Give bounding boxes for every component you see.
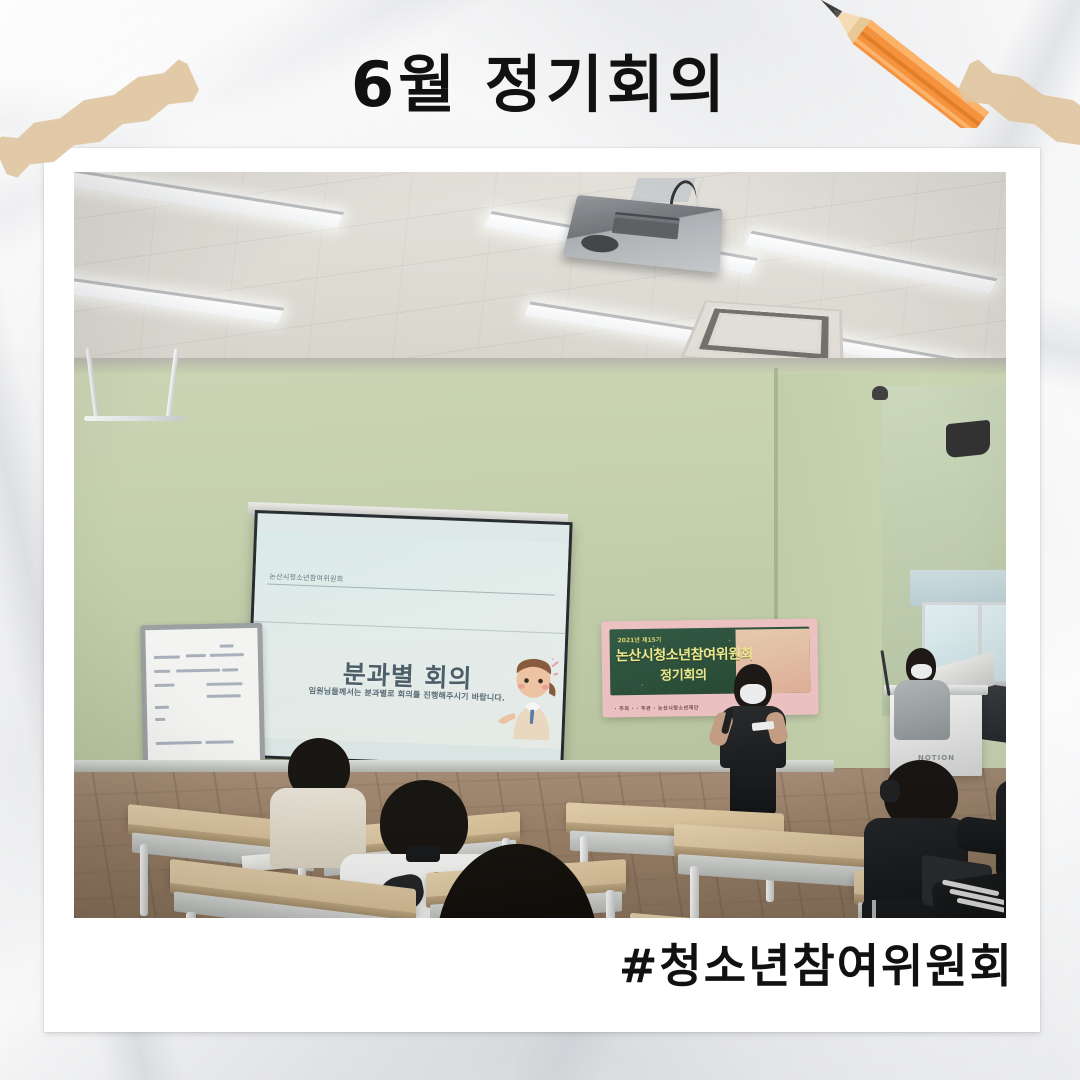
photo-caption: #청소년참여위원회 xyxy=(44,930,1014,996)
banner-line-sub: 정기회의 xyxy=(660,664,707,684)
slide-header-text: 논산시청소년참여위원회 xyxy=(269,572,343,585)
photo-frame: 논산시청소년참여위원회 분과별 회의 임원님들께서는 분과별로 회의를 진행해주… xyxy=(44,148,1040,1032)
whiteboard-base xyxy=(84,416,184,421)
banner-line-top: 2021년 제15기 xyxy=(618,635,662,645)
face-mask xyxy=(911,664,932,679)
student-foreground xyxy=(414,844,624,918)
photo-image: 논산시청소년참여위원회 분과별 회의 임원님들께서는 분과별로 회의를 진행해주… xyxy=(74,172,1006,918)
projection-screen: 논산시청소년참여위원회 분과별 회의 임원님들께서는 분과별로 회의를 진행해주… xyxy=(245,510,572,770)
slide-rule xyxy=(267,584,555,596)
face-mask-side xyxy=(880,780,900,802)
student-far-right xyxy=(986,728,1006,918)
slide-rule xyxy=(254,621,566,634)
student-at-lectern xyxy=(892,648,952,768)
student-back-row xyxy=(270,738,366,848)
chair xyxy=(1004,784,1006,918)
slide-character-illustration xyxy=(493,656,558,740)
desk-leg xyxy=(140,844,148,916)
long-hair xyxy=(436,844,598,918)
window-shade xyxy=(910,570,1006,606)
wall-speaker xyxy=(946,420,990,459)
wall-speaker xyxy=(872,386,888,400)
desk-leg xyxy=(690,866,699,918)
banner-line-main: 논산시청소년참여위원회 xyxy=(616,643,754,665)
pencil-icon xyxy=(795,0,1000,128)
legs xyxy=(730,764,776,814)
hoodie-torso xyxy=(894,680,950,740)
face-mask xyxy=(740,684,766,704)
wall-cornice xyxy=(74,358,1006,374)
presenter xyxy=(710,664,800,810)
desk-leg xyxy=(186,912,196,918)
slide-surface: 논산시청소년참여위원회 분과별 회의 임원님들께서는 분과별로 회의를 진행해주… xyxy=(249,531,569,749)
